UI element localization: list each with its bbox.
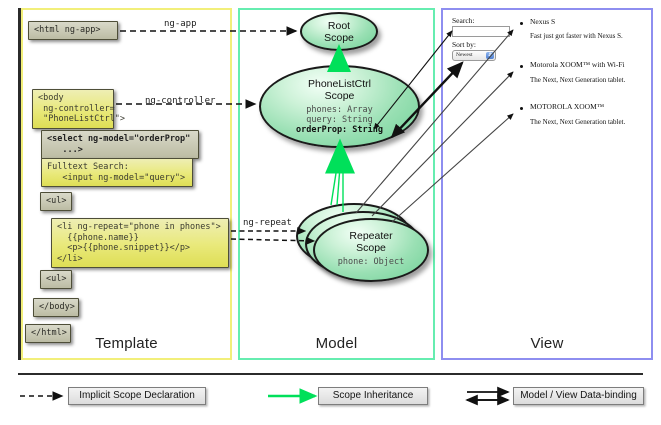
scope-prop-phone: phone: Object	[315, 257, 427, 267]
code-box-body-close: </body>	[33, 298, 79, 317]
view-search-input[interactable]	[452, 26, 510, 37]
legend-scope-inheritance: Scope Inheritance	[318, 387, 428, 405]
view-sort-label: Sort by:	[452, 40, 476, 49]
view-phone-name[interactable]: Motorola XOOM™ with Wi-Fi	[530, 60, 625, 69]
view-phone-snippet: Fast just got faster with Nexus S.	[530, 32, 623, 40]
panel-model: Model	[238, 8, 435, 360]
arrow-label-ng-app: ng-app	[164, 19, 197, 29]
code-box-ul-close: <ul>	[40, 270, 72, 289]
code-box-search: Fulltext Search: <input ng-model="query"…	[41, 158, 193, 187]
scope-prop-query: query: String	[261, 115, 418, 125]
code-box-html-open: <html ng-app>	[28, 21, 118, 40]
code-box-li-repeat: <li ng-repeat="phone in phones"> {{phone…	[51, 218, 229, 268]
scope-repeater-props: phone: Object	[315, 257, 427, 267]
arrow-label-ng-controller: ng-controller	[145, 96, 215, 106]
view-phone-name[interactable]: MOTOROLA XOOM™	[530, 102, 604, 111]
diagram-root: Template Model View <html ng-app> <body …	[0, 0, 661, 425]
list-bullet	[520, 65, 523, 68]
scope-phonelistctrl: PhoneListCtrl Scope phones: Array query:…	[259, 65, 420, 148]
list-bullet	[520, 107, 523, 110]
view-sort-select[interactable]: Newest ⇵	[452, 50, 496, 61]
legend-divider	[18, 373, 643, 375]
chevron-updown-icon: ⇵	[486, 52, 494, 59]
scope-phonelistctrl-label: PhoneListCtrl Scope	[261, 78, 418, 102]
legend-implicit-scope-declaration: Implicit Scope Declaration	[68, 387, 206, 405]
scope-phonelistctrl-props: phones: Array query: String orderProp: S…	[261, 105, 418, 135]
scope-repeater: Repeater Scope phone: Object	[313, 218, 429, 282]
view-search-label: Search:	[452, 16, 475, 25]
scope-prop-orderprop: orderProp: String	[261, 125, 418, 135]
scope-prop-phones: phones: Array	[261, 105, 418, 115]
view-phone-snippet: The Next, Next Generation tablet.	[530, 118, 625, 126]
view-phone-snippet: The Next, Next Generation tablet.	[530, 76, 625, 84]
code-box-body-open: <body ng-controller= "PhoneListCtrl">	[32, 89, 114, 129]
scope-repeater-label: Repeater Scope	[315, 230, 427, 254]
scope-root-label: Root Scope	[302, 20, 376, 44]
code-box-html-close: </html>	[25, 324, 71, 343]
scope-root: Root Scope	[300, 12, 378, 51]
arrow-label-ng-repeat: ng-repeat	[243, 218, 292, 228]
view-phone-name[interactable]: Nexus S	[530, 17, 555, 26]
code-box-select: <select ng-model="orderProp" ...>	[41, 130, 199, 159]
panel-model-title: Model	[240, 335, 433, 352]
panel-view-title: View	[443, 335, 651, 352]
list-bullet	[520, 22, 523, 25]
code-box-ul-open: <ul>	[40, 192, 72, 211]
legend-model-view-data-binding: Model / View Data-binding	[513, 387, 644, 405]
view-sort-value: Newest	[456, 52, 473, 58]
